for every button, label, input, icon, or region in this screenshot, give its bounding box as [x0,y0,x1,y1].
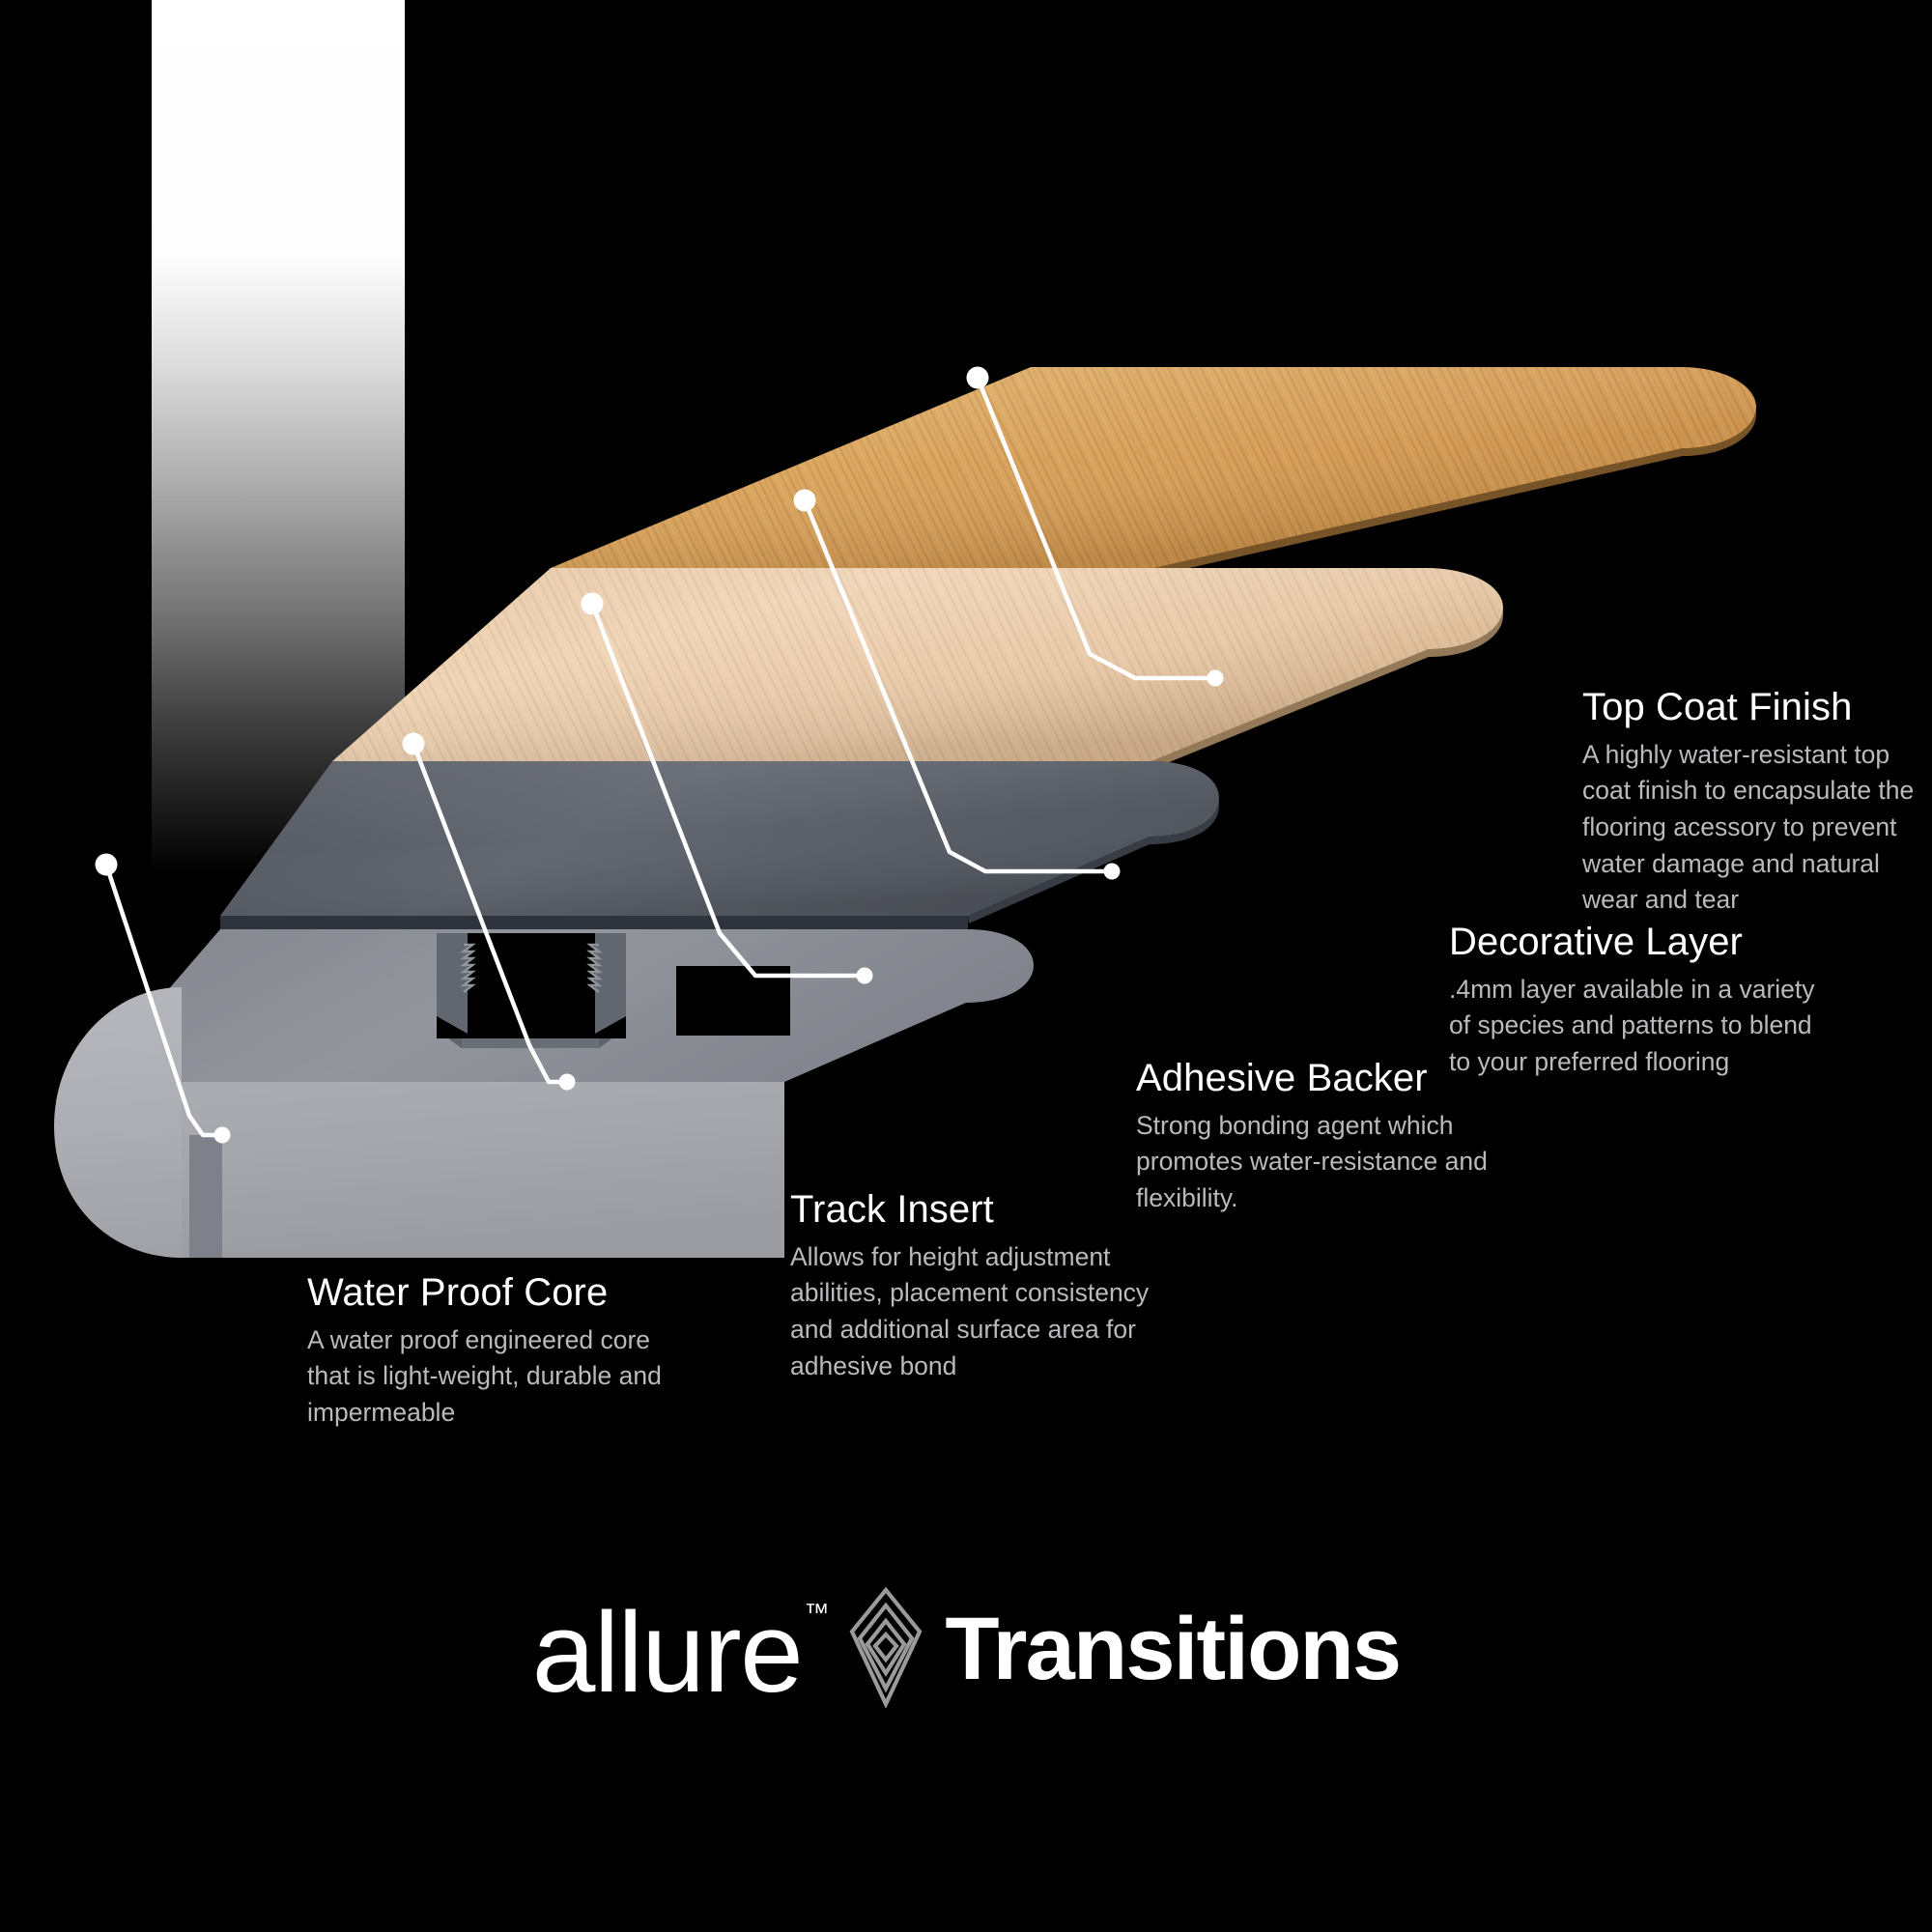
anchor-dot-core [96,854,118,876]
callout-track-insert: Track Insert Allows for height adjustmen… [790,1190,1149,1384]
callout-title: Decorative Layer [1449,923,1815,962]
label-dot-core [214,1127,231,1144]
callout-adhesive-backer: Adhesive Backer Strong bonding agent whi… [1136,1059,1488,1217]
callout-body-line: flooring acessory to prevent [1582,810,1914,846]
anchor-dot-decorative [794,490,816,512]
callout-body: A highly water-resistant top coat finish… [1582,737,1914,919]
callout-title: Adhesive Backer [1136,1059,1488,1098]
callout-body-line: .4mm layer available in a variety [1449,972,1815,1009]
callout-body: A water proof engineered core that is li… [307,1322,662,1432]
callout-body-line: impermeable [307,1395,662,1432]
transitions-wordmark: Transitions [945,1605,1400,1693]
anchor-dot-adhesive [582,593,604,615]
label-dot-top-coat [1207,670,1224,687]
trademark-symbol: ™ [804,1600,829,1625]
callout-body-line: Strong bonding agent which [1136,1108,1488,1145]
label-dot-decorative [1104,864,1121,880]
anchor-dot-track [403,733,425,755]
callout-body-line: flexibility. [1136,1180,1488,1217]
callout-body-line: water damage and natural [1582,846,1914,883]
callout-body-line: promotes water-resistance and [1136,1144,1488,1180]
callout-top-coat-finish: Top Coat Finish A highly water-resistant… [1582,688,1914,919]
callout-body-line: adhesive bond [790,1349,1149,1385]
callout-decorative-layer: Decorative Layer .4mm layer available in… [1449,923,1815,1081]
callout-body: Strong bonding agent which promotes wate… [1136,1108,1488,1217]
callout-body-line: coat finish to encapsulate the [1582,773,1914,810]
callout-body-line: wear and tear [1582,882,1914,919]
callout-body-line: abilities, placement consistency [790,1275,1149,1312]
callout-title: Track Insert [790,1190,1149,1230]
callout-body-line: A water proof engineered core [307,1322,662,1359]
callout-body: .4mm layer available in a variety of spe… [1449,972,1815,1081]
callout-title: Top Coat Finish [1582,688,1914,727]
callout-body-line: to your preferred flooring [1449,1044,1815,1081]
label-dot-track [559,1074,576,1091]
anchor-dot-top-coat [967,367,989,389]
nested-diamond-icon [848,1586,923,1708]
brand-logo-lockup: allure ™ Transitions [0,1565,1932,1729]
callout-body-line: that is light-weight, durable and [307,1358,662,1395]
label-dot-adhesive [857,968,873,984]
callout-body-line: of species and patterns to blend [1449,1008,1815,1044]
callout-body-line: A highly water-resistant top [1582,737,1914,774]
diagram-canvas: Top Coat Finish A highly water-resistant… [0,0,1932,1932]
callout-body-line: and additional surface area for [790,1312,1149,1349]
callout-title: Water Proof Core [307,1273,662,1313]
callout-body-line: Allows for height adjustment [790,1239,1149,1276]
allure-wordmark: allure [532,1596,803,1710]
callout-body: Allows for height adjustment abilities, … [790,1239,1149,1385]
callout-water-proof-core: Water Proof Core A water proof engineere… [307,1273,662,1432]
